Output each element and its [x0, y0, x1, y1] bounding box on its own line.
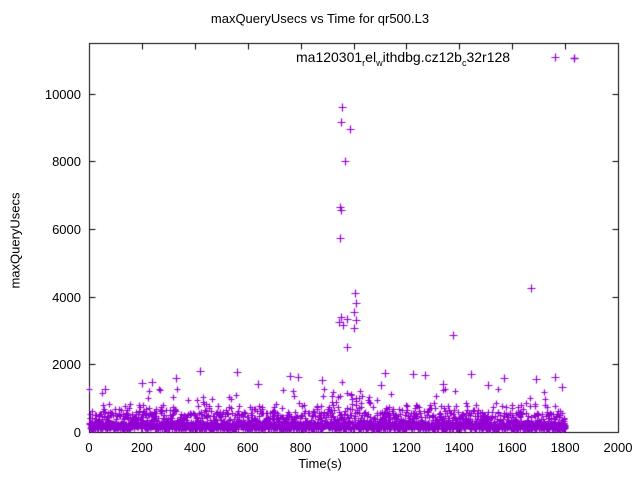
y-tick-label: 2000	[11, 358, 81, 371]
chart-plot-area: maxQueryUsecs vs Time for qr500.L3 ma120…	[0, 0, 640, 480]
legend-text: ithdbg.cz12b	[383, 49, 462, 65]
y-tick-label: 6000	[11, 223, 81, 236]
scatter-plot-canvas	[0, 0, 640, 480]
chart-title: maxQueryUsecs vs Time for qr500.L3	[0, 12, 640, 25]
legend-text: el	[365, 49, 376, 65]
x-axis-label: Time(s)	[0, 457, 640, 470]
x-tick-label: 2000	[583, 441, 640, 454]
y-tick-label: 0	[11, 426, 81, 439]
y-tick-label: 10000	[11, 88, 81, 101]
legend-text: 32r128	[466, 49, 510, 65]
y-tick-label: 8000	[11, 155, 81, 168]
legend-series-label: ma120301relwithdbg.cz12bc32r128	[296, 50, 510, 68]
legend-text: ma120301	[296, 49, 362, 65]
y-tick-label: 4000	[11, 291, 81, 304]
